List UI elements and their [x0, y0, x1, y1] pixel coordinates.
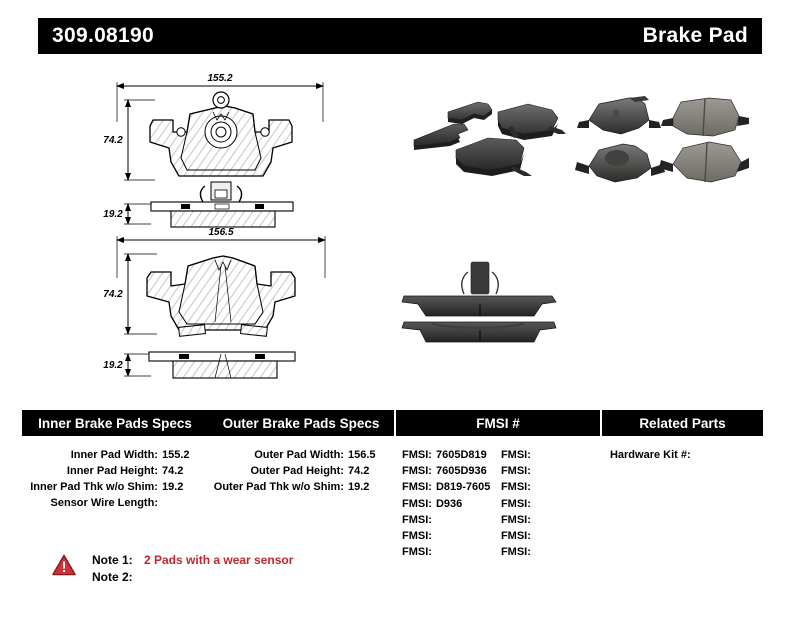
spec-row: Inner Pad Height: 74.2 [22, 463, 208, 479]
inner-pad-drawing: 155.2 74.2 [95, 70, 345, 240]
header-outer-specs: Outer Brake Pads Specs [208, 410, 394, 436]
fmsi-row: FMSI: [402, 512, 501, 528]
note-2-row: Note 2: [92, 569, 293, 586]
svg-text:155.2: 155.2 [207, 73, 232, 84]
product-photo-angled-set [392, 84, 567, 189]
spec-label: Outer Pad Width: [208, 447, 348, 463]
fmsi-row: FMSI: [501, 496, 600, 512]
spec-value [162, 495, 208, 511]
header-related-parts: Related Parts [600, 410, 763, 436]
fmsi-label: FMSI: [402, 528, 436, 544]
fmsi-value: D819-7605 [436, 479, 501, 495]
spec-row: Outer Pad Height: 74.2 [208, 463, 394, 479]
fmsi-label: FMSI: [501, 447, 535, 463]
spec-value: 19.2 [162, 479, 208, 495]
svg-text:156.5: 156.5 [208, 227, 233, 238]
fmsi-row: FMSI: [501, 528, 600, 544]
fmsi-value [436, 544, 501, 560]
fmsi-value [436, 528, 501, 544]
svg-text:19.2: 19.2 [103, 209, 123, 220]
note-1-text: 2 Pads with a wear sensor [144, 552, 293, 569]
fmsi-label: FMSI: [402, 463, 436, 479]
fmsi-label: FMSI: [501, 496, 535, 512]
svg-text:19.2: 19.2 [103, 360, 123, 371]
fmsi-row: FMSI: [501, 512, 600, 528]
dim-outer-thickness: 19.2 [103, 354, 151, 376]
notes-section: Note 1: 2 Pads with a wear sensor Note 2… [52, 552, 293, 586]
spec-row: Inner Pad Thk w/o Shim: 19.2 [22, 479, 208, 495]
product-photo-pad-grid [573, 92, 749, 197]
svg-text:74.2: 74.2 [103, 135, 123, 146]
fmsi-value [535, 544, 600, 560]
header-fmsi: FMSI # [394, 410, 600, 436]
spec-value: 155.2 [162, 447, 208, 463]
fmsi-value [535, 512, 600, 528]
product-photo-edge-pair [392, 260, 567, 353]
inner-specs-column: Inner Pad Width: 155.2 Inner Pad Height:… [22, 447, 208, 560]
spec-label: Inner Pad Thk w/o Shim: [22, 479, 162, 495]
hardware-kit-label: Hardware Kit #: [600, 447, 763, 463]
title-bar: 309.08190 Brake Pad [38, 18, 762, 54]
note-2-label: Note 2: [92, 569, 144, 586]
fmsi-row: FMSI: [501, 544, 600, 560]
fmsi-value: D936 [436, 496, 501, 512]
spec-row: Inner Pad Width: 155.2 [22, 447, 208, 463]
product-type-label: Brake Pad [643, 24, 748, 48]
note-1-row: Note 1: 2 Pads with a wear sensor [92, 552, 293, 569]
related-parts-column: Hardware Kit #: [600, 447, 763, 560]
fmsi-row: FMSI: [402, 544, 501, 560]
table-header-row: Inner Brake Pads Specs Outer Brake Pads … [22, 410, 763, 436]
fmsi-label: FMSI: [501, 479, 535, 495]
part-number: 309.08190 [52, 24, 154, 48]
table-body: Inner Pad Width: 155.2 Inner Pad Height:… [22, 436, 763, 560]
fmsi-label: FMSI: [501, 528, 535, 544]
spec-label: Inner Pad Height: [22, 463, 162, 479]
svg-text:74.2: 74.2 [103, 289, 123, 300]
dim-inner-height: 74.2 [103, 100, 155, 180]
fmsi-label: FMSI: [402, 512, 436, 528]
fmsi-value [535, 463, 600, 479]
spec-value: 156.5 [348, 447, 394, 463]
fmsi-label: FMSI: [501, 463, 535, 479]
fmsi-row: FMSI: [501, 447, 600, 463]
outer-pad-drawing: 156.5 74.2 [95, 222, 345, 392]
fmsi-value [535, 447, 600, 463]
dim-inner-thickness: 19.2 [103, 204, 151, 224]
spec-value: 74.2 [162, 463, 208, 479]
fmsi-row: FMSI: 7605D819 [402, 447, 501, 463]
spec-value: 19.2 [348, 479, 394, 495]
fmsi-label: FMSI: [402, 479, 436, 495]
outer-specs-column: Outer Pad Width: 156.5 Outer Pad Height:… [208, 447, 394, 560]
fmsi-row: FMSI: [501, 463, 600, 479]
fmsi-row: FMSI: D819-7605 [402, 479, 501, 495]
fmsi-value: 7605D819 [436, 447, 501, 463]
fmsi-value [535, 479, 600, 495]
outer-pad-outline [147, 256, 295, 336]
spec-label: Inner Pad Width: [22, 447, 162, 463]
spec-row: Outer Pad Width: 156.5 [208, 447, 394, 463]
fmsi-subcolumn-right: FMSI: FMSI: FMSI: FMSI: [501, 447, 600, 560]
header-inner-specs: Inner Brake Pads Specs [22, 410, 208, 436]
spec-value: 74.2 [348, 463, 394, 479]
spec-label: Outer Pad Thk w/o Shim: [208, 479, 348, 495]
specifications-table: Inner Brake Pads Specs Outer Brake Pads … [22, 410, 763, 545]
inner-pad-sensor-clip [200, 182, 241, 202]
spec-label: Outer Pad Height: [208, 463, 348, 479]
outer-pad-edge-profile [149, 352, 295, 378]
fmsi-row: FMSI: [402, 528, 501, 544]
spec-label: Sensor Wire Length: [22, 495, 162, 511]
fmsi-label: FMSI: [402, 544, 436, 560]
technical-drawings-area: 155.2 74.2 [0, 62, 800, 392]
note-1-label: Note 1: [92, 552, 144, 569]
fmsi-row: FMSI: 7605D936 [402, 463, 501, 479]
fmsi-row: FMSI: [501, 479, 600, 495]
spec-row: Sensor Wire Length: [22, 495, 208, 511]
spec-row: Outer Pad Thk w/o Shim: 19.2 [208, 479, 394, 495]
fmsi-value: 7605D936 [436, 463, 501, 479]
fmsi-label: FMSI: [402, 447, 436, 463]
fmsi-value [436, 512, 501, 528]
fmsi-value [535, 528, 600, 544]
inner-pad-outline [150, 92, 292, 176]
fmsi-column: FMSI: 7605D819 FMSI: 7605D936 FMSI: D819… [394, 447, 600, 560]
fmsi-label: FMSI: [402, 496, 436, 512]
fmsi-value [535, 496, 600, 512]
warning-triangle-icon [52, 554, 76, 576]
fmsi-label: FMSI: [501, 512, 535, 528]
fmsi-subcolumn-left: FMSI: 7605D819 FMSI: 7605D936 FMSI: D819… [402, 447, 501, 560]
fmsi-label: FMSI: [501, 544, 535, 560]
fmsi-row: FMSI: D936 [402, 496, 501, 512]
